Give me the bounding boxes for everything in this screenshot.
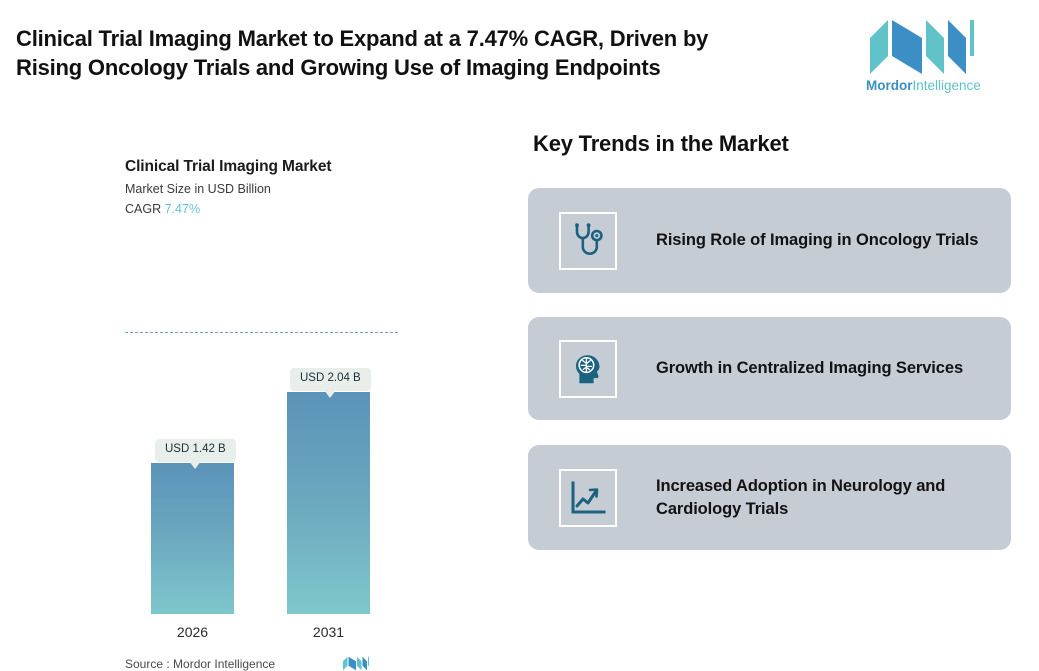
trend-icon-box: [559, 212, 617, 270]
reference-line: [125, 332, 398, 333]
page-title-line-2: Rising Oncology Trials and Growing Use o…: [16, 53, 836, 82]
chart-panel: Clinical Trial Imaging Market Market Siz…: [0, 130, 500, 570]
chart-source-text: Source : Mordor Intelligence: [125, 657, 275, 671]
mordor-logo-wordmark: MordorIntelligence: [866, 76, 978, 96]
mordor-logo-mark: [866, 16, 978, 74]
logo-word-intelligence: Intelligence: [913, 78, 981, 93]
stethoscope-icon: [570, 222, 606, 260]
trend-card-oncology[interactable]: Rising Role of Imaging in Oncology Trial…: [528, 188, 1011, 293]
x-axis-tick-2026: 2026: [151, 624, 234, 640]
brain-head-icon: [569, 350, 607, 388]
trend-card-centralized-imaging[interactable]: Growth in Centralized Imaging Services: [528, 317, 1011, 420]
x-axis-tick-2031: 2031: [287, 624, 370, 640]
trend-card-label: Increased Adoption in Neurology and Card…: [656, 475, 995, 520]
logo-word-mordor: Mordor: [866, 78, 913, 93]
bar-2026: [151, 463, 234, 614]
mordor-intelligence-logo: MordorIntelligence: [866, 16, 978, 100]
bar-value-label-2031: USD 2.04 B: [290, 368, 371, 391]
trend-card-neurology-cardiology[interactable]: Increased Adoption in Neurology and Card…: [528, 445, 1011, 550]
page-title-line-1: Clinical Trial Imaging Market to Expand …: [16, 24, 836, 53]
bar-2031: [287, 392, 370, 614]
trend-icon-box: [559, 340, 617, 398]
growth-chart-icon: [569, 480, 607, 516]
trend-card-label: Growth in Centralized Imaging Services: [656, 357, 963, 379]
trend-icon-box: [559, 469, 617, 527]
page-title: Clinical Trial Imaging Market to Expand …: [16, 24, 836, 83]
mordor-logo-mark-small: [342, 655, 370, 671]
trend-card-label: Rising Role of Imaging in Oncology Trial…: [656, 229, 978, 251]
trends-heading: Key Trends in the Market: [533, 131, 789, 157]
chart-plot-area: USD 1.42 B USD 2.04 B 2026 2031: [0, 130, 500, 570]
bar-value-label-2026: USD 1.42 B: [155, 439, 236, 462]
